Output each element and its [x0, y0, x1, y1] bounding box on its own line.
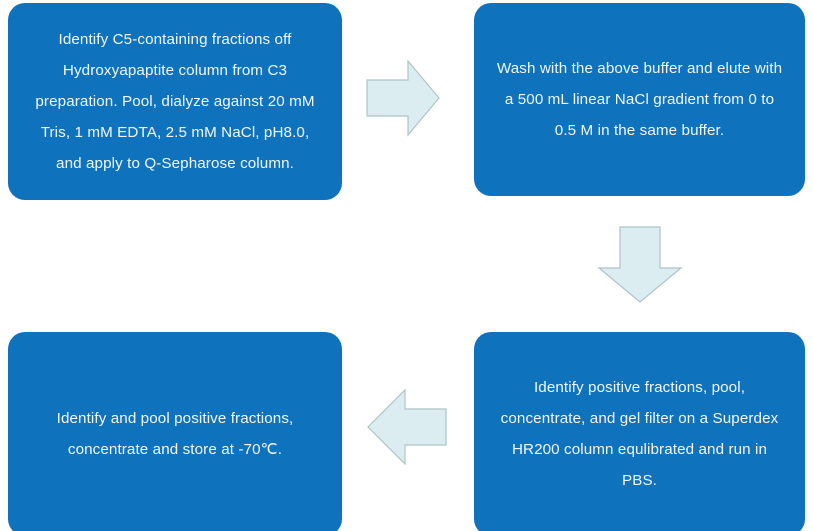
flowchart-step-1-label: Identify C5-containing fractions off Hyd… — [8, 24, 342, 179]
flowchart-step-3-label: Identify positive fractions, pool, conce… — [474, 372, 805, 496]
flowchart-step-4: Identify and pool positive fractions, co… — [8, 332, 342, 531]
arrow-right-icon — [367, 61, 439, 135]
flowchart-step-1: Identify C5-containing fractions off Hyd… — [8, 3, 342, 200]
flowchart-step-2: Wash with the above buffer and elute wit… — [474, 3, 805, 196]
flowchart-step-4-label: Identify and pool positive fractions, co… — [8, 403, 342, 465]
flowchart-diagram: Identify C5-containing fractions off Hyd… — [0, 0, 813, 531]
arrow-left-icon — [368, 390, 446, 464]
flowchart-step-3: Identify positive fractions, pool, conce… — [474, 332, 805, 531]
arrow-down-icon — [599, 227, 681, 302]
flowchart-step-2-label: Wash with the above buffer and elute wit… — [474, 53, 805, 146]
